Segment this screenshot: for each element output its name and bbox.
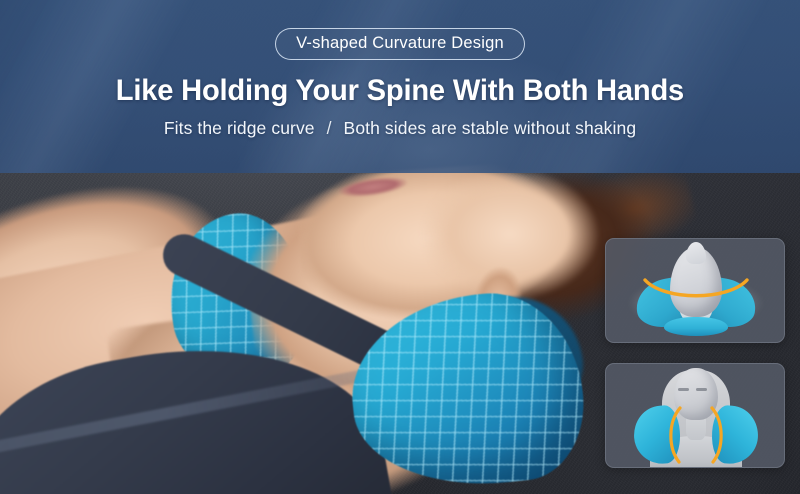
pillow-grid-texture-right xyxy=(343,284,592,494)
subtitle-left: Fits the ridge curve xyxy=(164,118,315,138)
panel-1-curve-highlight xyxy=(642,275,750,303)
panel-hands-cradling-head xyxy=(605,238,785,343)
pillow-wing-right xyxy=(343,284,592,494)
subtitle: Fits the ridge curve / Both sides are st… xyxy=(164,118,636,139)
panel-2-eye-left xyxy=(678,388,689,391)
subtitle-right: Both sides are stable without shaking xyxy=(344,118,637,138)
illustration-panels xyxy=(605,238,785,468)
panel-1-head-tip xyxy=(686,242,706,264)
panel-2-curve-highlights xyxy=(664,404,728,466)
panel-2-artwork xyxy=(606,364,784,467)
panel-1-artwork xyxy=(606,239,784,342)
panel-2-eye-right xyxy=(696,388,707,391)
panel-mannequin-front-view xyxy=(605,363,785,468)
headline: Like Holding Your Spine With Both Hands xyxy=(116,74,684,107)
header-overlay: V-shaped Curvature Design Like Holding Y… xyxy=(0,0,800,173)
product-feature-banner: V-shaped Curvature Design Like Holding Y… xyxy=(0,0,800,494)
panel-1-pillow-base xyxy=(664,317,728,336)
feature-badge: V-shaped Curvature Design xyxy=(275,28,525,60)
subtitle-separator: / xyxy=(320,118,339,138)
